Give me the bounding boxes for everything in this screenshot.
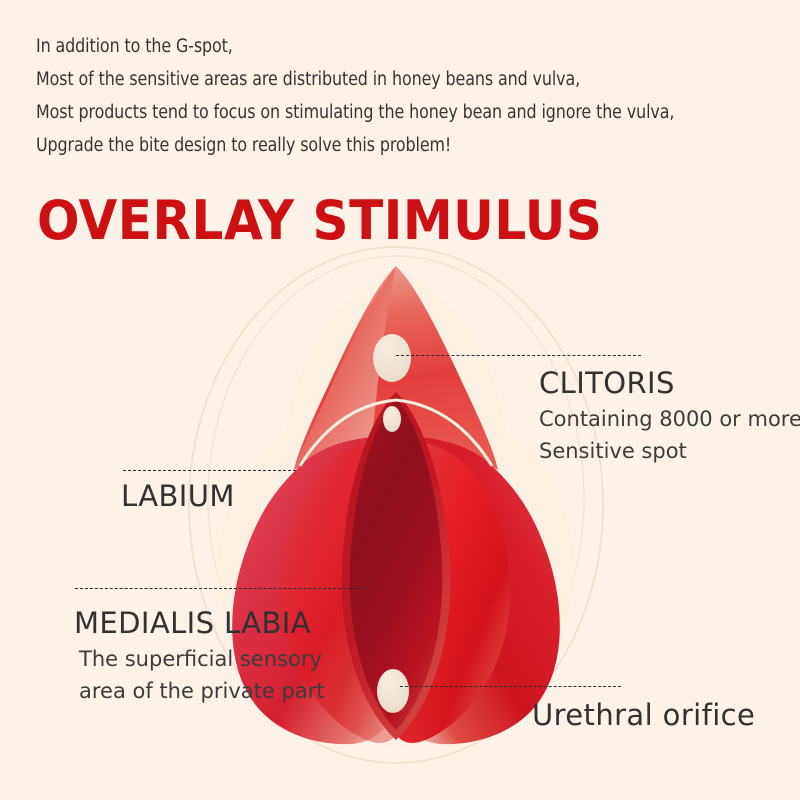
callout-medialis-sub-2: area of the private part xyxy=(79,677,325,705)
callout-labium-heading: LABIUM xyxy=(121,478,235,514)
urethral-orifice-marker xyxy=(377,669,409,713)
leader-line-clitoris xyxy=(396,355,641,356)
callout-urethral-heading: Urethral orifice xyxy=(532,697,755,733)
callout-clitoris: CLITORIS Containing 8000 or more Sensiti… xyxy=(539,365,800,465)
clitoral-glans-marker xyxy=(383,406,401,432)
callout-medialis-heading: MEDIALIS LABIA xyxy=(74,605,325,641)
poster-canvas: In addition to the G-spot, Most of the s… xyxy=(0,0,800,800)
callout-urethral: Urethral orifice xyxy=(532,697,755,733)
callout-medialis: MEDIALIS LABIA The superficial sensory a… xyxy=(74,605,325,705)
clitoris-marker xyxy=(373,334,411,382)
callout-clitoris-sub-1: Containing 8000 or more xyxy=(539,405,800,433)
callout-medialis-sub-1: The superficial sensory xyxy=(79,645,325,673)
leader-line-labium xyxy=(123,470,296,471)
leader-line-medialis xyxy=(75,588,366,589)
callout-clitoris-sub-2: Sensitive spot xyxy=(539,437,800,465)
callout-clitoris-heading: CLITORIS xyxy=(539,365,800,401)
callout-labium: LABIUM xyxy=(121,478,235,514)
leader-line-urethral xyxy=(400,686,621,687)
